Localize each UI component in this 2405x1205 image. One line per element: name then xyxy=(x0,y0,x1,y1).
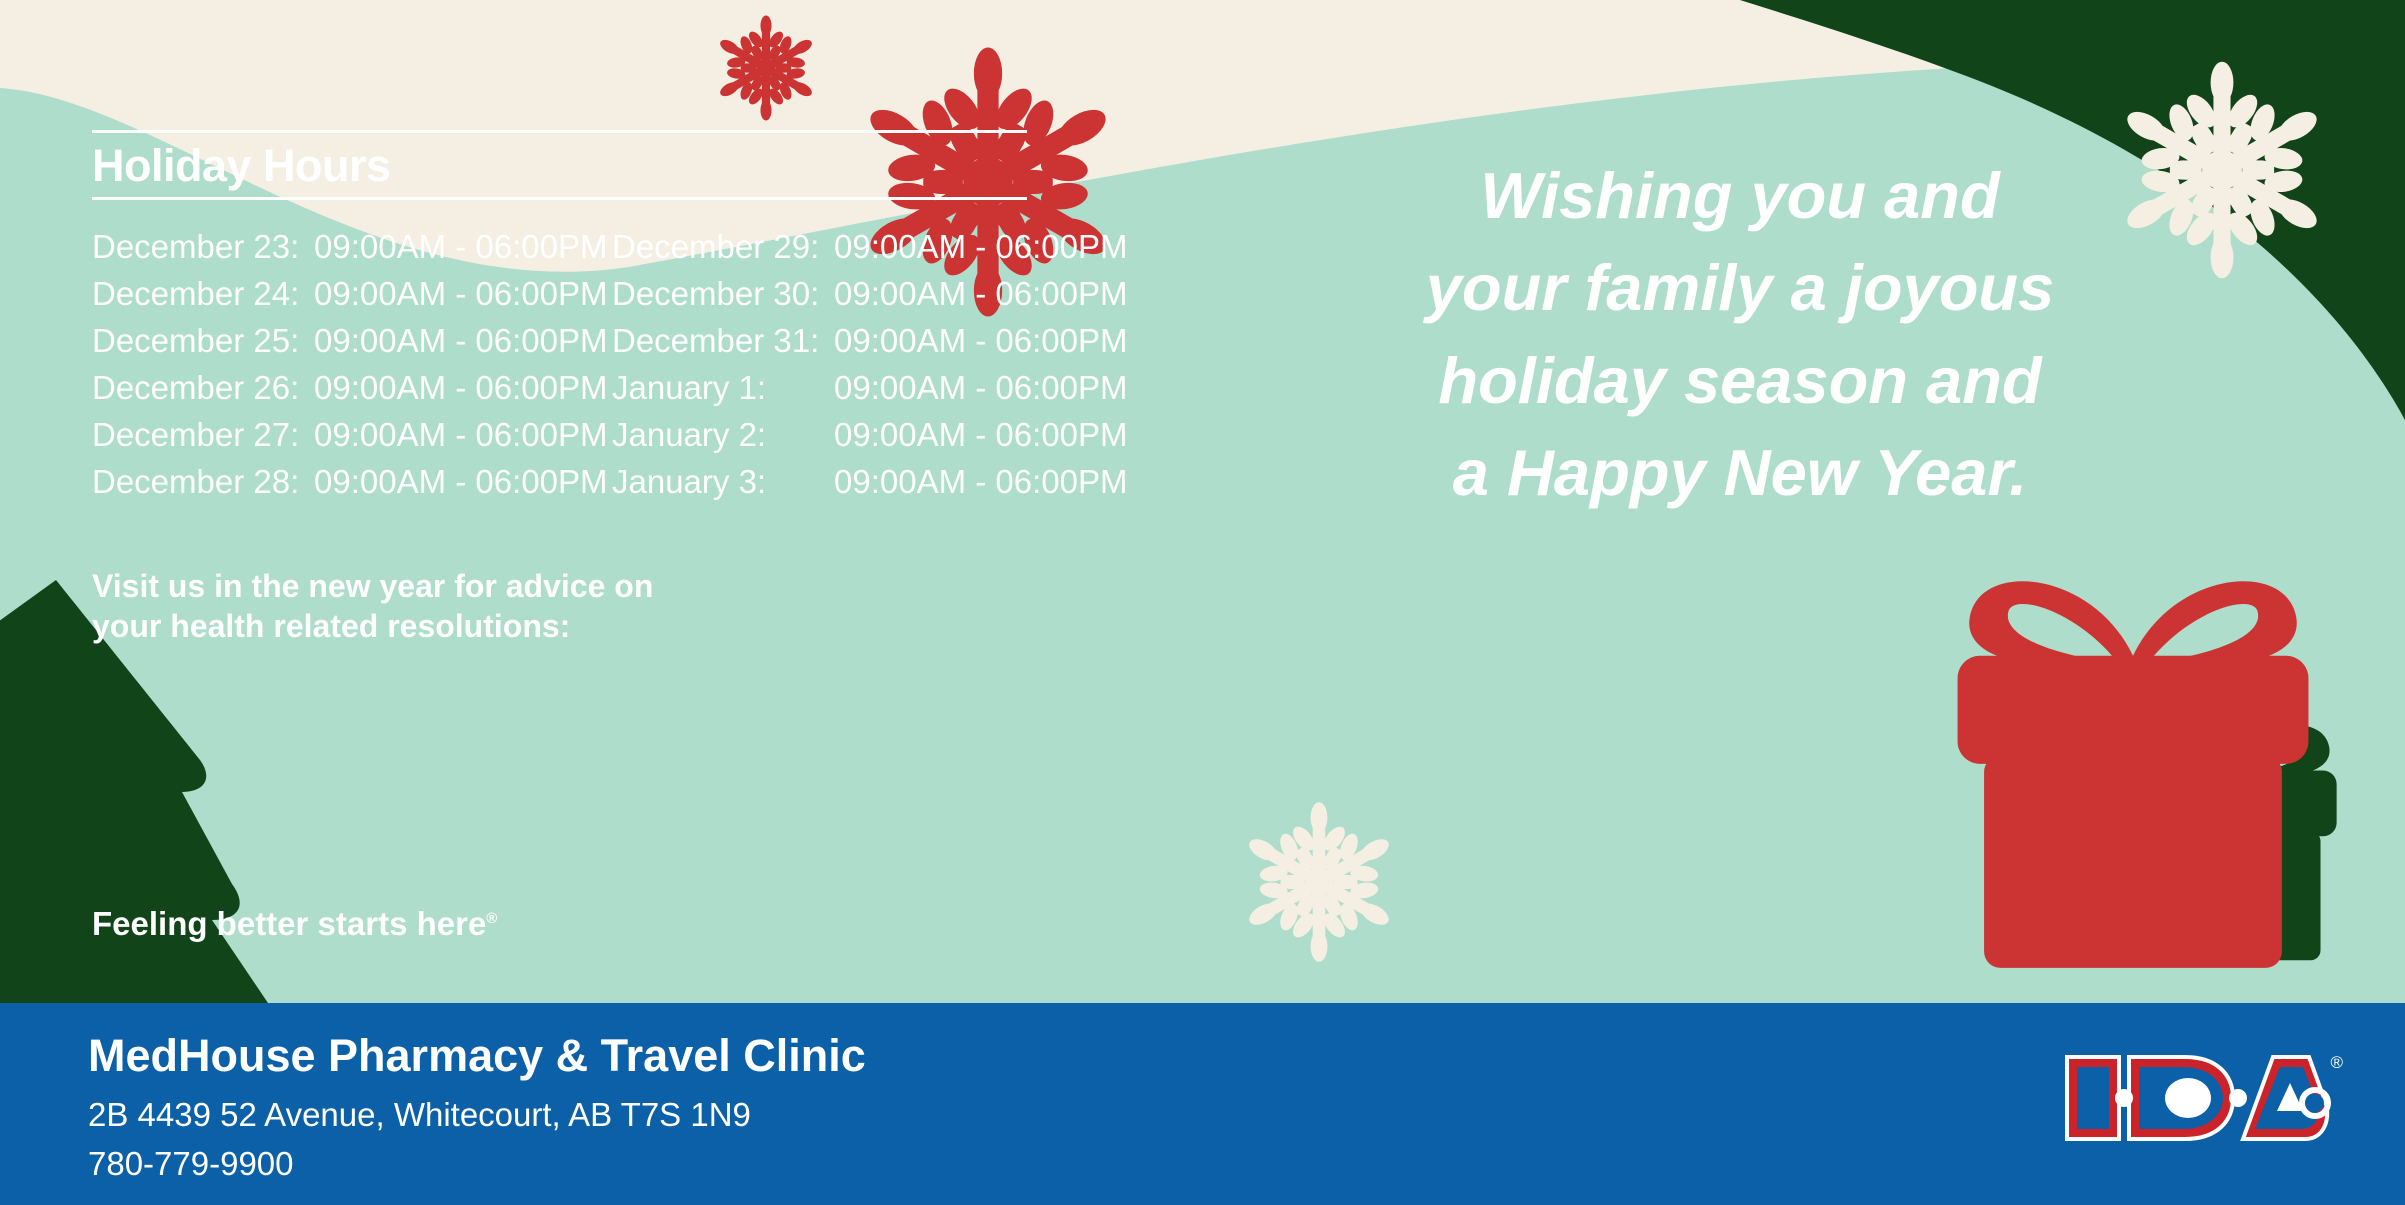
footer-bar: MedHouse Pharmacy & Travel Clinic 2B 443… xyxy=(0,1003,2405,1205)
registered-mark-icon: ® xyxy=(486,910,497,927)
greeting-message: Wishing you and your family a joyous hol… xyxy=(1300,150,2180,519)
hours-day: December 29: xyxy=(612,228,834,266)
hours-time: 09:00AM - 06:00PM xyxy=(314,463,608,501)
hours-row: December 28: 09:00AM - 06:00PM xyxy=(92,463,612,510)
ida-logo xyxy=(2057,1043,2337,1153)
tagline-text: Feeling better starts here xyxy=(92,905,486,942)
hours-row: December 24: 09:00AM - 06:00PM xyxy=(92,275,612,322)
pharmacy-name: MedHouse Pharmacy & Travel Clinic xyxy=(88,1030,866,1082)
pharmacy-phone: 780-779-9900 xyxy=(88,1145,294,1183)
hours-row: December 30: 09:00AM - 06:00PM xyxy=(612,275,1132,322)
hours-time: 09:00AM - 06:00PM xyxy=(834,369,1128,407)
hours-day: December 27: xyxy=(92,416,314,454)
hours-row: December 31: 09:00AM - 06:00PM xyxy=(612,322,1132,369)
hours-time: 09:00AM - 06:00PM xyxy=(834,275,1128,313)
hours-day: December 31: xyxy=(612,322,834,360)
hours-row: December 25: 09:00AM - 06:00PM xyxy=(92,322,612,369)
hours-day: December 26: xyxy=(92,369,314,407)
cream-snowflake-center xyxy=(1235,802,1403,962)
hours-row: December 29: 09:00AM - 06:00PM xyxy=(612,228,1132,275)
hours-row: January 1: 09:00AM - 06:00PM xyxy=(612,369,1132,416)
hours-time: 09:00AM - 06:00PM xyxy=(834,416,1128,454)
holiday-greeting-card: Holiday Hours December 23: 09:00AM - 06:… xyxy=(0,0,2405,1205)
hours-day: December 23: xyxy=(92,228,314,266)
promo-message: Visit us in the new year for advice on y… xyxy=(92,567,653,646)
ida-registered-mark: ® xyxy=(2330,1053,2343,1073)
hours-time: 09:00AM - 06:00PM xyxy=(314,322,608,360)
hours-day: January 2: xyxy=(612,416,834,454)
hours-time: 09:00AM - 06:00PM xyxy=(314,416,608,454)
hours-row: January 3: 09:00AM - 06:00PM xyxy=(612,463,1132,510)
hours-day: December 28: xyxy=(92,463,314,501)
hours-time: 09:00AM - 06:00PM xyxy=(834,322,1128,360)
hours-row: January 2: 09:00AM - 06:00PM xyxy=(612,416,1132,463)
hours-row: December 23: 09:00AM - 06:00PM xyxy=(92,228,612,275)
hours-row: December 27: 09:00AM - 06:00PM xyxy=(92,416,612,463)
hours-rule-bottom xyxy=(92,197,1027,200)
hours-day: December 30: xyxy=(612,275,834,313)
hours-time: 09:00AM - 06:00PM xyxy=(834,463,1128,501)
hours-day: January 3: xyxy=(612,463,834,501)
red-gift-box xyxy=(1958,581,2309,968)
hours-day: January 1: xyxy=(612,369,834,407)
red-snowflake-small xyxy=(711,16,822,121)
hours-time: 09:00AM - 06:00PM xyxy=(314,275,608,313)
hours-row: December 26: 09:00AM - 06:00PM xyxy=(92,369,612,416)
holiday-hours-block: Holiday Hours December 23: 09:00AM - 06:… xyxy=(92,130,1132,510)
hours-grid: December 23: 09:00AM - 06:00PM December … xyxy=(92,228,1132,510)
pharmacy-address: 2B 4439 52 Avenue, Whitecourt, AB T7S 1N… xyxy=(88,1096,751,1134)
hours-title: Holiday Hours xyxy=(92,133,1132,197)
hours-time: 09:00AM - 06:00PM xyxy=(314,228,608,266)
hours-time: 09:00AM - 06:00PM xyxy=(834,228,1128,266)
brand-tagline: Feeling better starts here® xyxy=(92,905,497,943)
green-gift-box xyxy=(2123,725,2336,960)
hours-day: December 25: xyxy=(92,322,314,360)
hours-time: 09:00AM - 06:00PM xyxy=(314,369,608,407)
hours-day: December 24: xyxy=(92,275,314,313)
